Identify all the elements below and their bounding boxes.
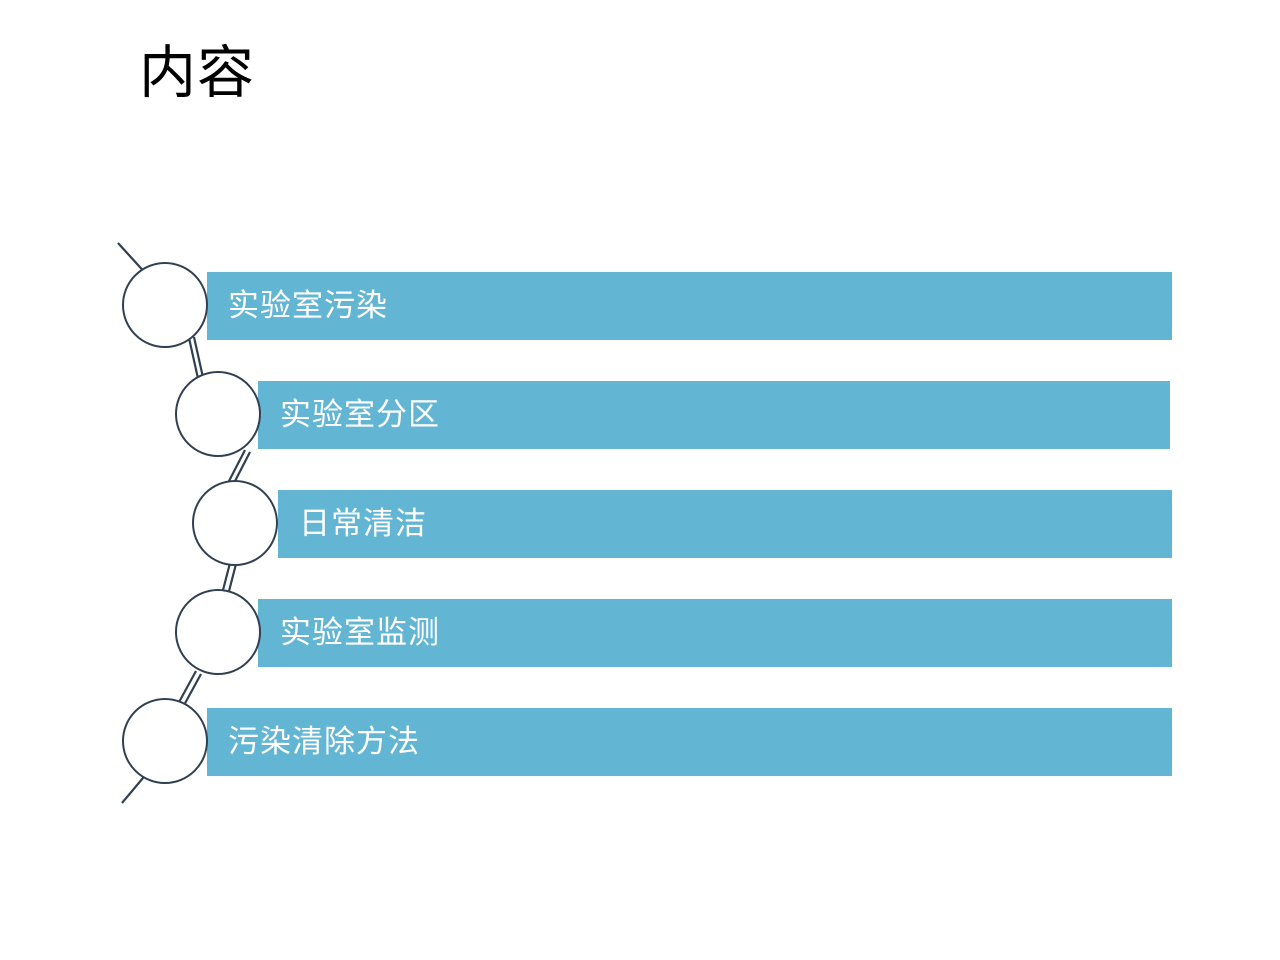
agenda-diagram: 实验室污染 实验室分区 日常清洁 实验室监测 污染清除方法 bbox=[0, 0, 1280, 960]
agenda-label-2: 实验室分区 bbox=[280, 381, 440, 449]
agenda-node-circle-1[interactable] bbox=[122, 262, 208, 348]
agenda-label-1: 实验室污染 bbox=[228, 272, 388, 340]
agenda-label-5: 污染清除方法 bbox=[228, 708, 420, 776]
agenda-label-3: 日常清洁 bbox=[299, 490, 427, 558]
agenda-node-circle-4[interactable] bbox=[175, 589, 261, 675]
connector-chain bbox=[0, 0, 1280, 960]
agenda-node-circle-3[interactable] bbox=[192, 480, 278, 566]
agenda-label-4: 实验室监测 bbox=[280, 599, 440, 667]
slide-canvas: 内容 实验室污染 bbox=[0, 0, 1280, 960]
agenda-node-circle-5[interactable] bbox=[122, 698, 208, 784]
agenda-node-circle-2[interactable] bbox=[175, 371, 261, 457]
